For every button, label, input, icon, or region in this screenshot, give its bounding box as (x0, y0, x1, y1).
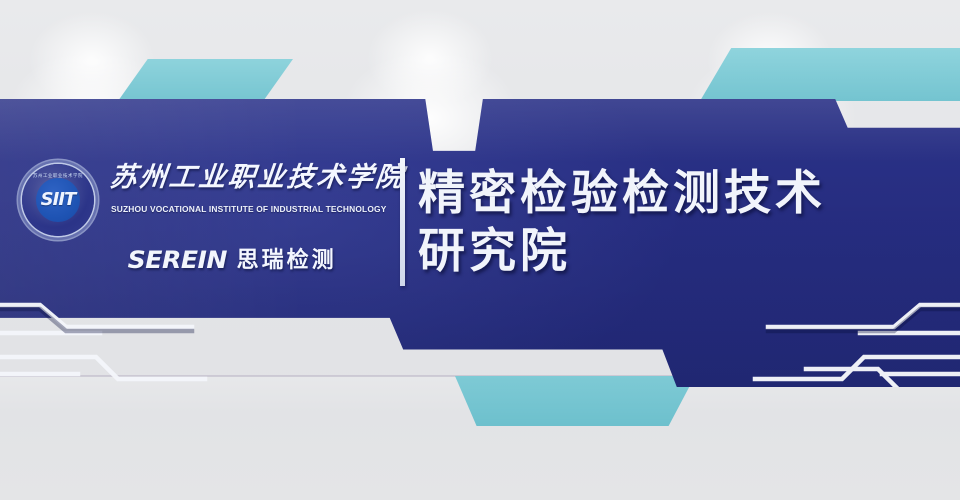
institute-headline: 精密检验检测技术 研究院 (418, 165, 948, 281)
teal-accent-left (118, 59, 293, 101)
university-emblem-icon: 苏州工业职业技术学院 SIIT (22, 164, 94, 236)
headline-line-1: 精密检验检测技术 (418, 166, 826, 221)
university-logo-block: 苏州工业职业技术学院 SIIT 苏州工业职业技术学院 SUZHOU VOCATI… (18, 160, 390, 290)
teal-accent-right (700, 48, 960, 101)
partner-name-en: SEREIN (128, 248, 227, 272)
teal-accent-bottom (455, 376, 695, 426)
vertical-divider (400, 158, 405, 286)
emblem-inner-disc: SIIT (36, 178, 80, 222)
partner-name-cn: 思瑞检测 (237, 249, 337, 271)
partner-logo-row: SEREIN 思瑞检测 (130, 248, 337, 272)
headline-line-2: 研究院 (418, 223, 948, 281)
emblem-monogram: SIIT (41, 191, 76, 209)
signage-scene: 苏州工业职业技术学院 SIIT 苏州工业职业技术学院 SUZHOU VOCATI… (0, 0, 960, 500)
university-name-en: SUZHOU VOCATIONAL INSTITUTE OF INDUSTRIA… (111, 204, 407, 214)
university-name-cn: 苏州工业职业技术学院 (108, 162, 391, 193)
